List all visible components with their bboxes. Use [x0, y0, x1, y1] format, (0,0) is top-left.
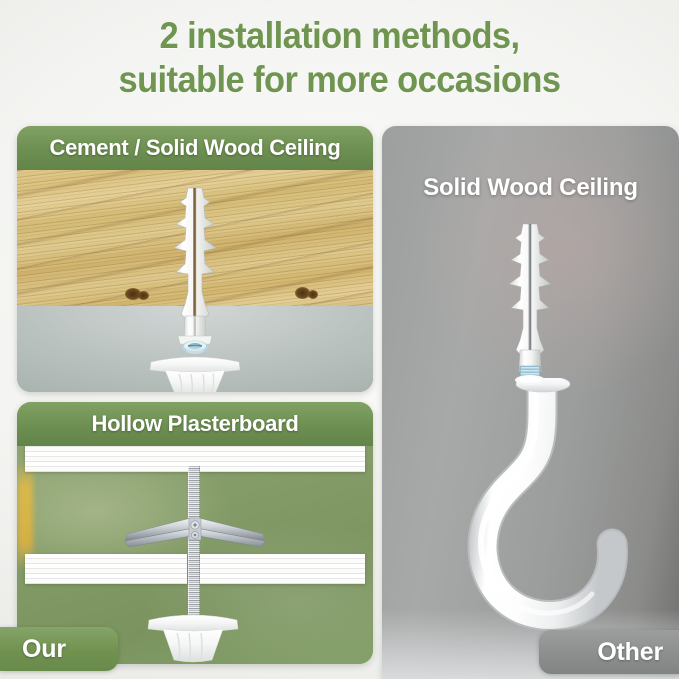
toggle-bolt-wings-icon: [117, 510, 273, 550]
panel-cement-solid-wood-ceiling: Cement / Solid Wood Ceiling: [17, 126, 373, 392]
panel-header-label: Hollow Plasterboard: [91, 411, 298, 437]
nylon-wall-plug-anchor-icon: [499, 222, 561, 372]
badge-other: Other: [539, 630, 679, 674]
nylon-wall-plug-anchor-icon: [164, 184, 226, 344]
panel-other-label: Solid Wood Ceiling: [382, 174, 679, 202]
panel-hollow-plasterboard: Hollow Plasterboard: [17, 402, 373, 664]
wood-knot-icon: [138, 291, 149, 300]
product-infographic: 2 installation methods, suitable for mor…: [0, 0, 679, 679]
panel-other-solid-wood-ceiling: Solid Wood Ceiling: [382, 126, 679, 679]
headline-line-1: 2 installation methods,: [24, 14, 655, 58]
headline-line-2: suitable for more occasions: [24, 58, 655, 102]
white-ceiling-hook-base-icon: [141, 610, 245, 664]
headline: 2 installation methods, suitable for mor…: [0, 14, 679, 102]
panel-header-plasterboard: Hollow Plasterboard: [17, 402, 373, 446]
plasterboard-sheet-lower-right: [199, 554, 365, 584]
badge-ours: Our: [0, 627, 118, 671]
white-ceiling-hook-base-icon: [143, 350, 247, 392]
wood-knot-icon: [308, 290, 318, 299]
panel-header-label: Cement / Solid Wood Ceiling: [50, 135, 341, 161]
badge-ours-label: Our: [22, 635, 66, 664]
badge-other-label: Other: [597, 638, 663, 667]
plasterboard-sheet-lower-left: [25, 554, 187, 584]
metal-screw-icon: [510, 364, 550, 388]
panel-header-cement: Cement / Solid Wood Ceiling: [17, 126, 373, 170]
